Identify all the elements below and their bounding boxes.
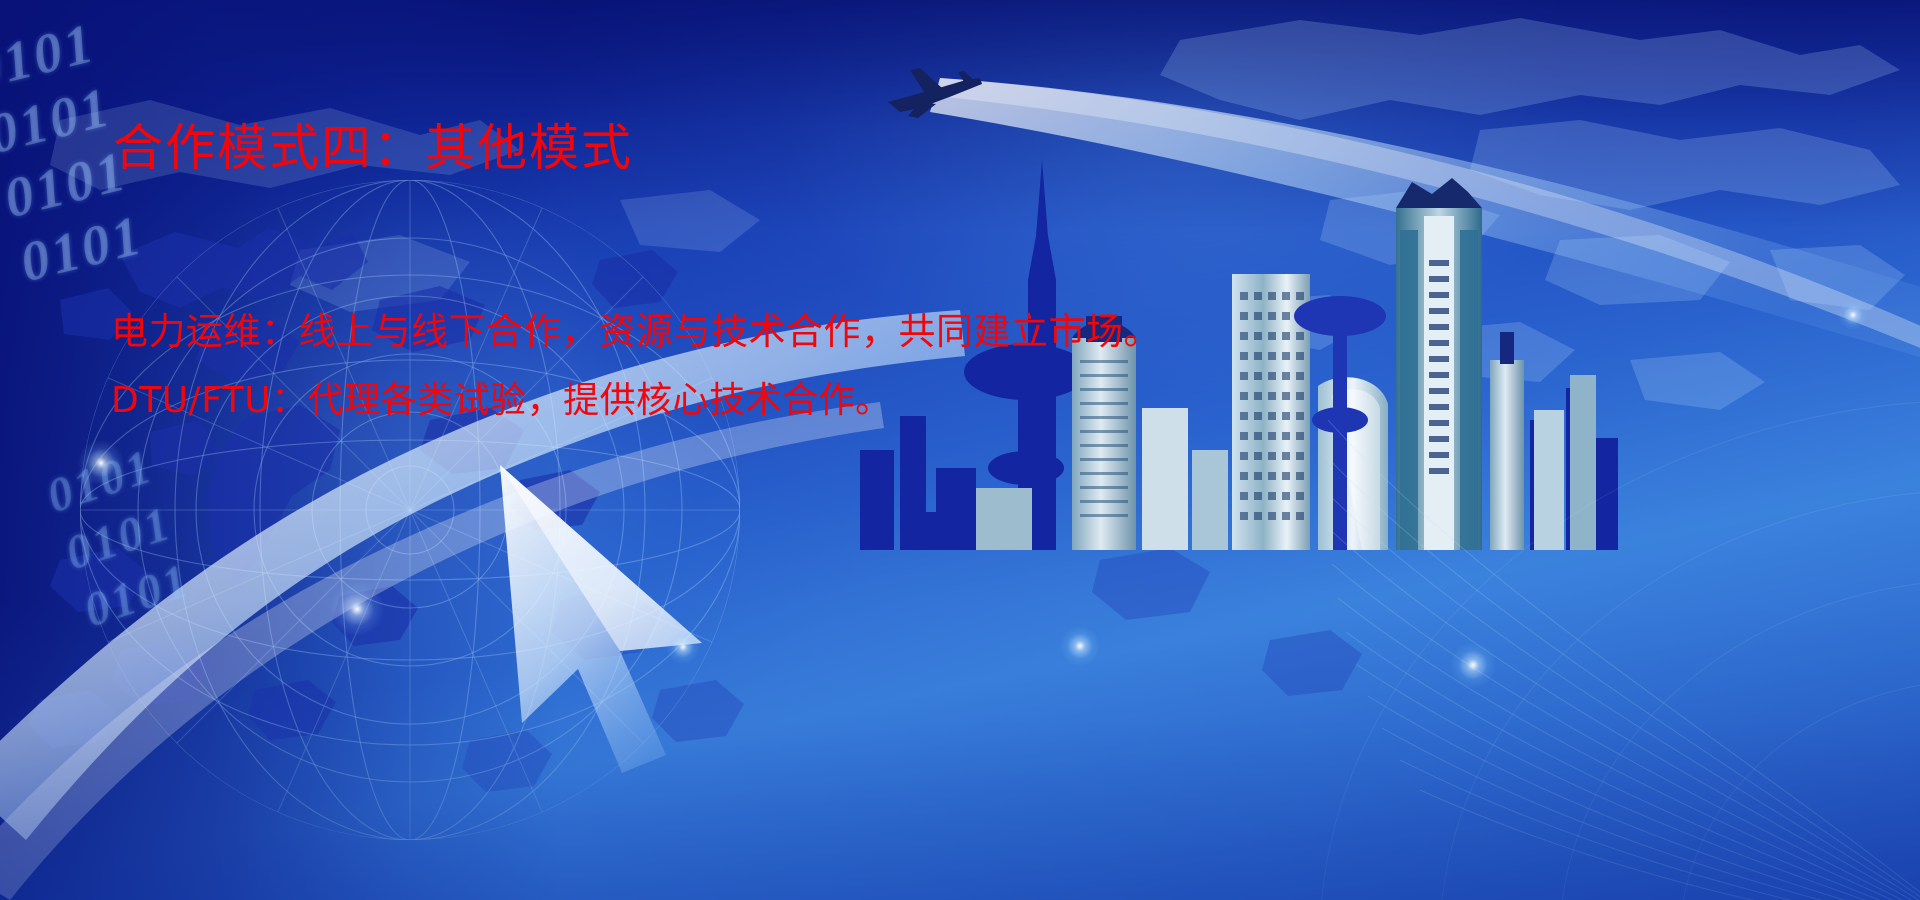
body-line-2: DTU/FTU：代理各类试验，提供核心技术合作。 [111,366,1611,435]
body-line-1: 电力运维：线上与线下合作，资源与技术合作，共同建立市场。 [111,297,1611,366]
slide-title: 合作模式四：其他模式 [113,116,633,180]
bottom-glow [0,600,1920,900]
presentation-slide: 0101 0101 0101 0101 0101 0101 0101 合作模式四… [0,0,1920,900]
slide-body: 电力运维：线上与线下合作，资源与技术合作，共同建立市场。 DTU/FTU：代理各… [111,297,1611,435]
